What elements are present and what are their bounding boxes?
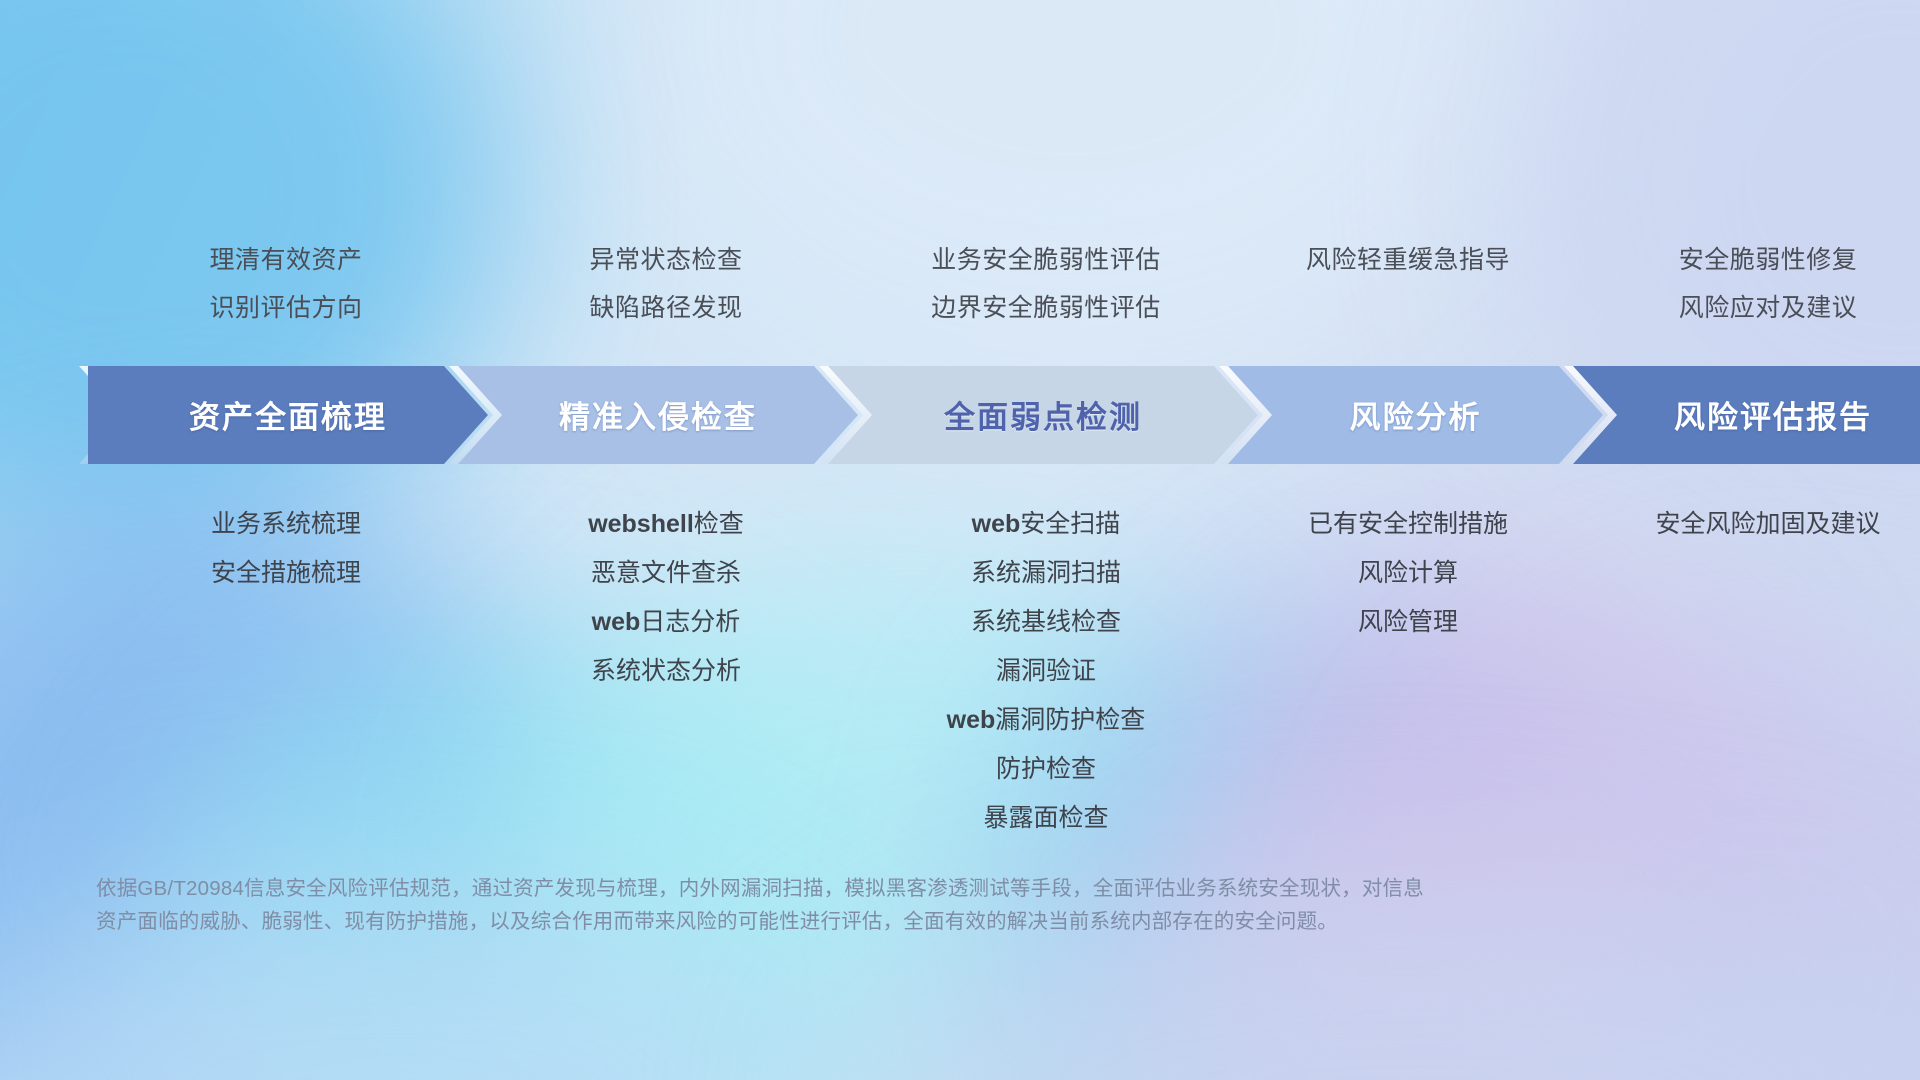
process-stage-title: 资产全面梳理 [189, 392, 387, 437]
stage-top-labels-5: 安全脆弱性修复风险应对及建议 [1518, 236, 1920, 332]
stage-top-label: 安全脆弱性修复 [1518, 236, 1920, 284]
process-stage-arrow-3[interactable]: 全面弱点检测 [828, 366, 1258, 464]
stage-bottom-item: 风险计算 [1158, 549, 1658, 598]
process-stage-arrow-2[interactable]: 精准入侵检查 [458, 366, 858, 464]
footer-line-2: 资产面临的威胁、脆弱性、现有防护措施，以及综合作用而带来风险的可能性进行评估，全… [96, 905, 1626, 938]
stage-bottom-item: 暴露面检查 [796, 794, 1296, 843]
process-stage-title: 风险评估报告 [1674, 392, 1872, 437]
footer-description: 依据GB/T20984信息安全风险评估规范，通过资产发现与梳理，内外网漏洞扫描，… [96, 872, 1626, 938]
process-stage-arrow-5[interactable]: 风险评估报告 [1573, 366, 1920, 464]
top-labels-row: 理清有效资产识别评估方向异常状态检查缺陷路径发现业务安全脆弱性评估边界安全脆弱性… [0, 236, 1920, 326]
stage-top-label: 风险应对及建议 [1518, 284, 1920, 332]
process-arrow-band: 资产全面梳理精准入侵检查全面弱点检测风险分析风险评估报告 [88, 366, 1848, 464]
process-infographic: 理清有效资产识别评估方向异常状态检查缺陷路径发现业务安全脆弱性评估边界安全脆弱性… [0, 0, 1920, 1080]
process-stage-arrow-1[interactable]: 资产全面梳理 [88, 366, 488, 464]
stage-top-label: 边界安全脆弱性评估 [796, 284, 1296, 332]
stage-bottom-item: web漏洞防护检查 [796, 696, 1296, 745]
process-stage-title: 全面弱点检测 [944, 392, 1142, 437]
process-stage-title: 风险分析 [1350, 392, 1482, 437]
stage-bottom-item: 防护检查 [796, 745, 1296, 794]
stage-bottom-item: 安全风险加固及建议 [1518, 500, 1920, 549]
process-stage-title: 精准入侵检查 [559, 392, 757, 437]
stage-bottom-item: 风险管理 [1158, 598, 1658, 647]
process-stage-arrow-4[interactable]: 风险分析 [1228, 366, 1603, 464]
footer-line-1: 依据GB/T20984信息安全风险评估规范，通过资产发现与梳理，内外网漏洞扫描，… [96, 872, 1626, 905]
stage-bottom-items-5: 安全风险加固及建议 [1518, 500, 1920, 549]
stage-bottom-item: 漏洞验证 [796, 647, 1296, 696]
